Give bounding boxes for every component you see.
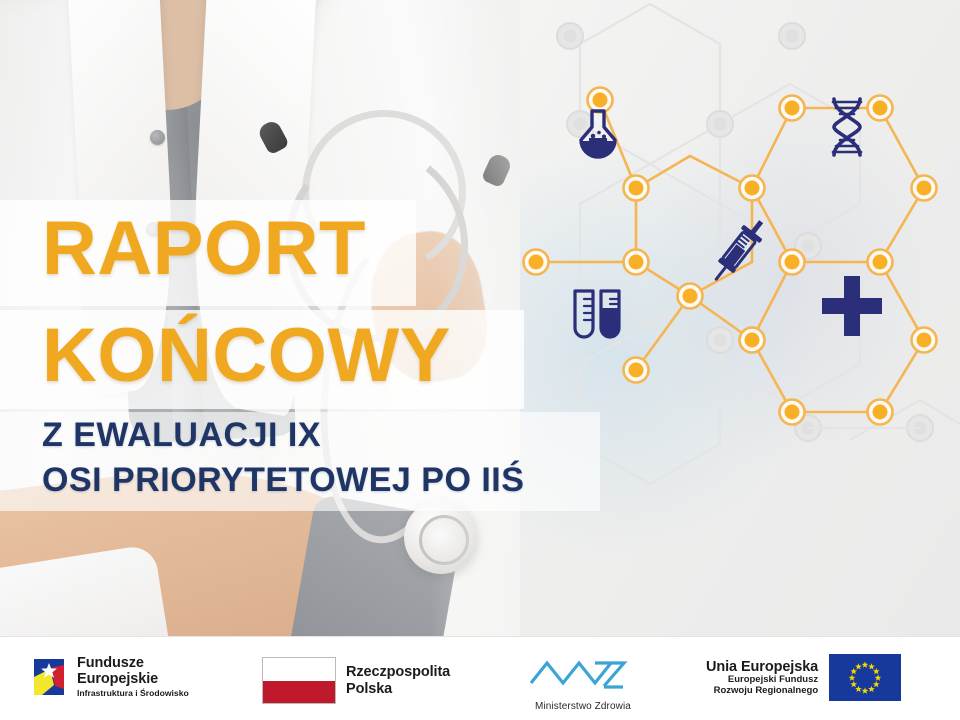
ue-line-3: Rozwoju Regionalnego [706,686,818,697]
hexagon-network-graphic: .ghost { fill:none; stroke:#e4e4e4; stro… [520,0,960,636]
fe-line-2: Europejskie [77,671,189,687]
unia-europejska-text: Unia Europejska Europejski Fundusz Rozwo… [706,659,818,696]
funding-logo-bar: Fundusze Europejskie Infrastruktura i Śr… [0,636,960,720]
rzeczpospolita-polska-logo: Rzeczpospolita Polska [262,657,450,704]
poland-flag-icon [262,657,336,704]
rp-line-2: Polska [346,681,450,697]
medical-cross-icon [820,274,884,338]
flask-icon [574,108,622,162]
ue-line-1: Unia Europejska [706,659,818,675]
unia-europejska-logo: Unia Europejska Europejski Fundusz Rozwo… [706,654,901,701]
page-subtitle-line-2: OSI PRIORYTETOWEJ PO IIŚ [42,463,524,497]
page-subtitle-line-1: Z EWALUACJI IX [42,418,321,452]
fundusze-europejskie-text: Fundusze Europejskie Infrastruktura i Śr… [77,655,189,699]
dna-icon [820,96,874,158]
fundusze-europejskie-mark-icon [30,655,68,699]
page-title-line-2: KOŃCOWY [42,318,451,394]
rp-line-1: Rzeczpospolita [346,664,450,680]
ministerstwo-zdrowia-caption: Ministerstwo Zdrowia [528,701,638,712]
flag-stripe-red [263,681,335,704]
fe-line-3: Infrastruktura i Środowisko [77,689,189,699]
fundusze-europejskie-logo: Fundusze Europejskie Infrastruktura i Śr… [30,655,189,699]
rzeczpospolita-polska-text: Rzeczpospolita Polska [346,664,450,696]
fe-line-1: Fundusze [77,655,189,671]
flag-stripe-white [263,658,335,681]
page-title-line-1: RAPORT [42,211,366,287]
test-tubes-icon [570,288,626,342]
report-cover-poster: .ghost { fill:none; stroke:#e4e4e4; stro… [0,0,960,720]
hero-section: .ghost { fill:none; stroke:#e4e4e4; stro… [0,0,960,636]
eu-flag-icon [829,654,901,701]
ministerstwo-zdrowia-logo: Ministerstwo Zdrowia [528,659,638,712]
shirt-button [150,130,165,145]
syringe-icon [706,216,768,286]
ministerstwo-zdrowia-mark-icon [528,659,638,695]
eu-stars-icon [829,654,901,701]
